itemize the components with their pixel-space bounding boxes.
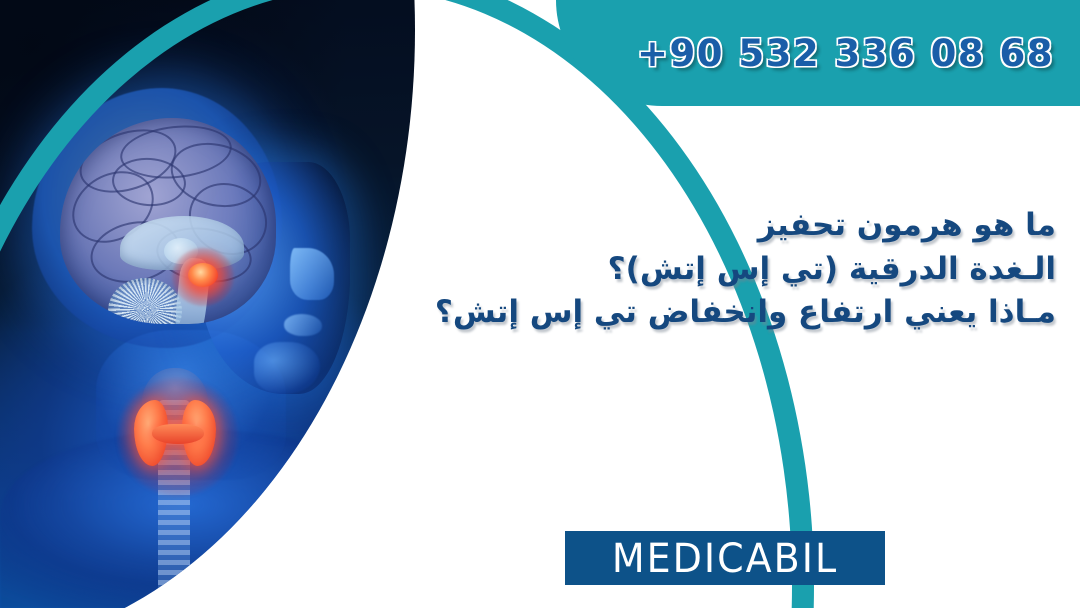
cerebellum bbox=[108, 278, 182, 324]
lips-shape bbox=[284, 314, 322, 336]
anatomy-illustration bbox=[0, 0, 420, 608]
medicabil-logo: MEDICABIL bbox=[565, 531, 885, 585]
phone-number[interactable]: +90 532 336 08 68 bbox=[637, 32, 1054, 75]
brain-sagittal-section bbox=[60, 118, 276, 324]
headline-line-3: مـاذا يعني ارتفاع وانخفاض تي إس إتش؟ bbox=[366, 293, 1056, 333]
head-profile bbox=[22, 70, 352, 400]
headline: ما هو هرمون تحفيز الـغدة الدرقية (تي إس … bbox=[366, 206, 1056, 333]
headline-line-2: الـغدة الدرقية (تي إس إتش)؟ bbox=[366, 250, 1056, 290]
phone-banner: +90 532 336 08 68 bbox=[556, 0, 1080, 106]
logo-text: MEDICABIL bbox=[612, 538, 838, 578]
pituitary-gland-highlight bbox=[188, 263, 218, 287]
headline-line-1: ما هو هرمون تحفيز bbox=[366, 206, 1056, 246]
poster-canvas: +90 532 336 08 68 ما هو هرمون تحفيز الـغ… bbox=[0, 0, 1080, 608]
thyroid-isthmus bbox=[152, 424, 204, 444]
